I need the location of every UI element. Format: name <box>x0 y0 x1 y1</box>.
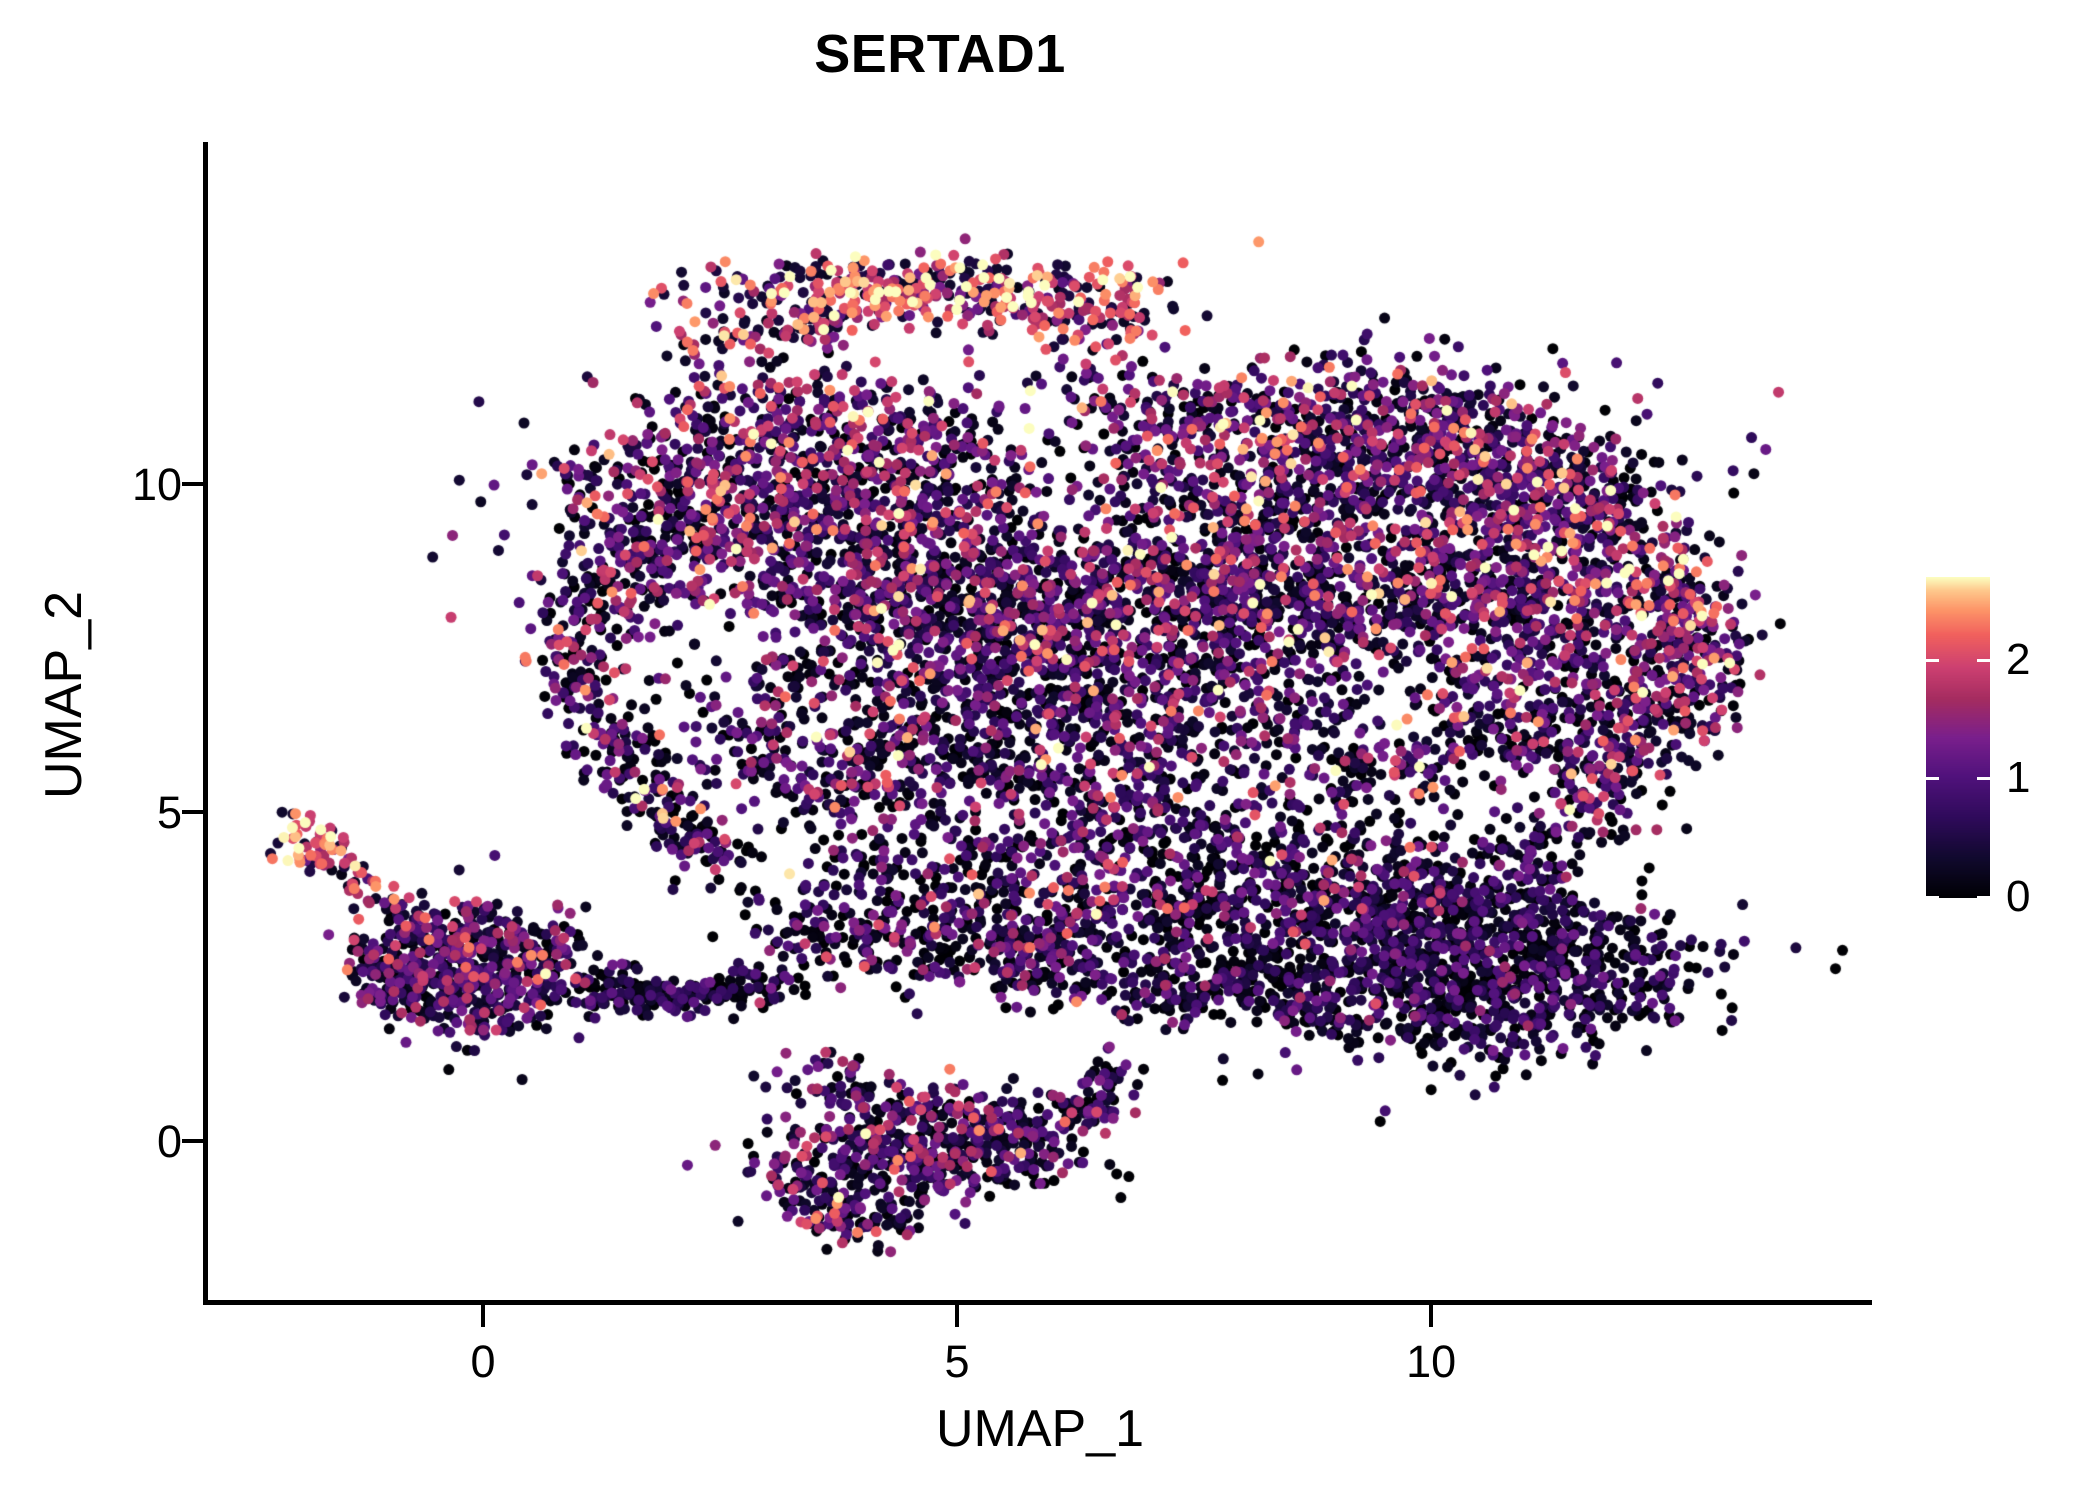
colorbar-tick-right-2 <box>1977 659 1990 662</box>
colorbar-label-2: 2 <box>2006 638 2096 682</box>
colorbar-label-1: 1 <box>2006 756 2096 800</box>
x-axis-tick-10 <box>1429 1305 1433 1327</box>
x-axis-ticklabel-5: 5 <box>857 1336 1057 1388</box>
colorbar-tick-right-0 <box>1977 896 1990 899</box>
scatter-plot-canvas <box>208 142 1872 1302</box>
colorbar-tick-right-1 <box>1977 777 1990 780</box>
x-axis-tick-0 <box>481 1305 485 1327</box>
colorbar-label-0: 0 <box>2006 875 2096 919</box>
x-axis-line <box>203 1300 1872 1305</box>
plot-panel <box>208 142 1872 1302</box>
x-axis-ticklabel-0: 0 <box>383 1336 583 1388</box>
y-axis-tick-0 <box>182 1139 204 1143</box>
colorbar-tick-left-0 <box>1926 896 1939 899</box>
colorbar-tick-left-1 <box>1926 777 1939 780</box>
page-title: SERTAD1 <box>0 22 1880 86</box>
y-axis-line <box>203 142 208 1305</box>
colorbar-tick-left-2 <box>1926 659 1939 662</box>
colorbar-legend: 2 1 0 <box>1926 577 1990 898</box>
y-axis-label-wrap: UMAP_2 <box>33 115 95 1275</box>
y-axis-tick-5 <box>182 810 204 814</box>
y-axis-tick-10 <box>182 482 204 486</box>
feature-plot-figure: SERTAD1 10 5 0 0 5 10 UMAP_1 UMAP_2 2 1 … <box>0 0 2100 1500</box>
y-axis-label: UMAP_2 <box>33 115 95 1275</box>
x-axis-ticklabel-10: 10 <box>1331 1336 1531 1388</box>
x-axis-label: UMAP_1 <box>208 1398 1872 1460</box>
x-axis-tick-5 <box>955 1305 959 1327</box>
colorbar-gradient <box>1926 577 1990 898</box>
